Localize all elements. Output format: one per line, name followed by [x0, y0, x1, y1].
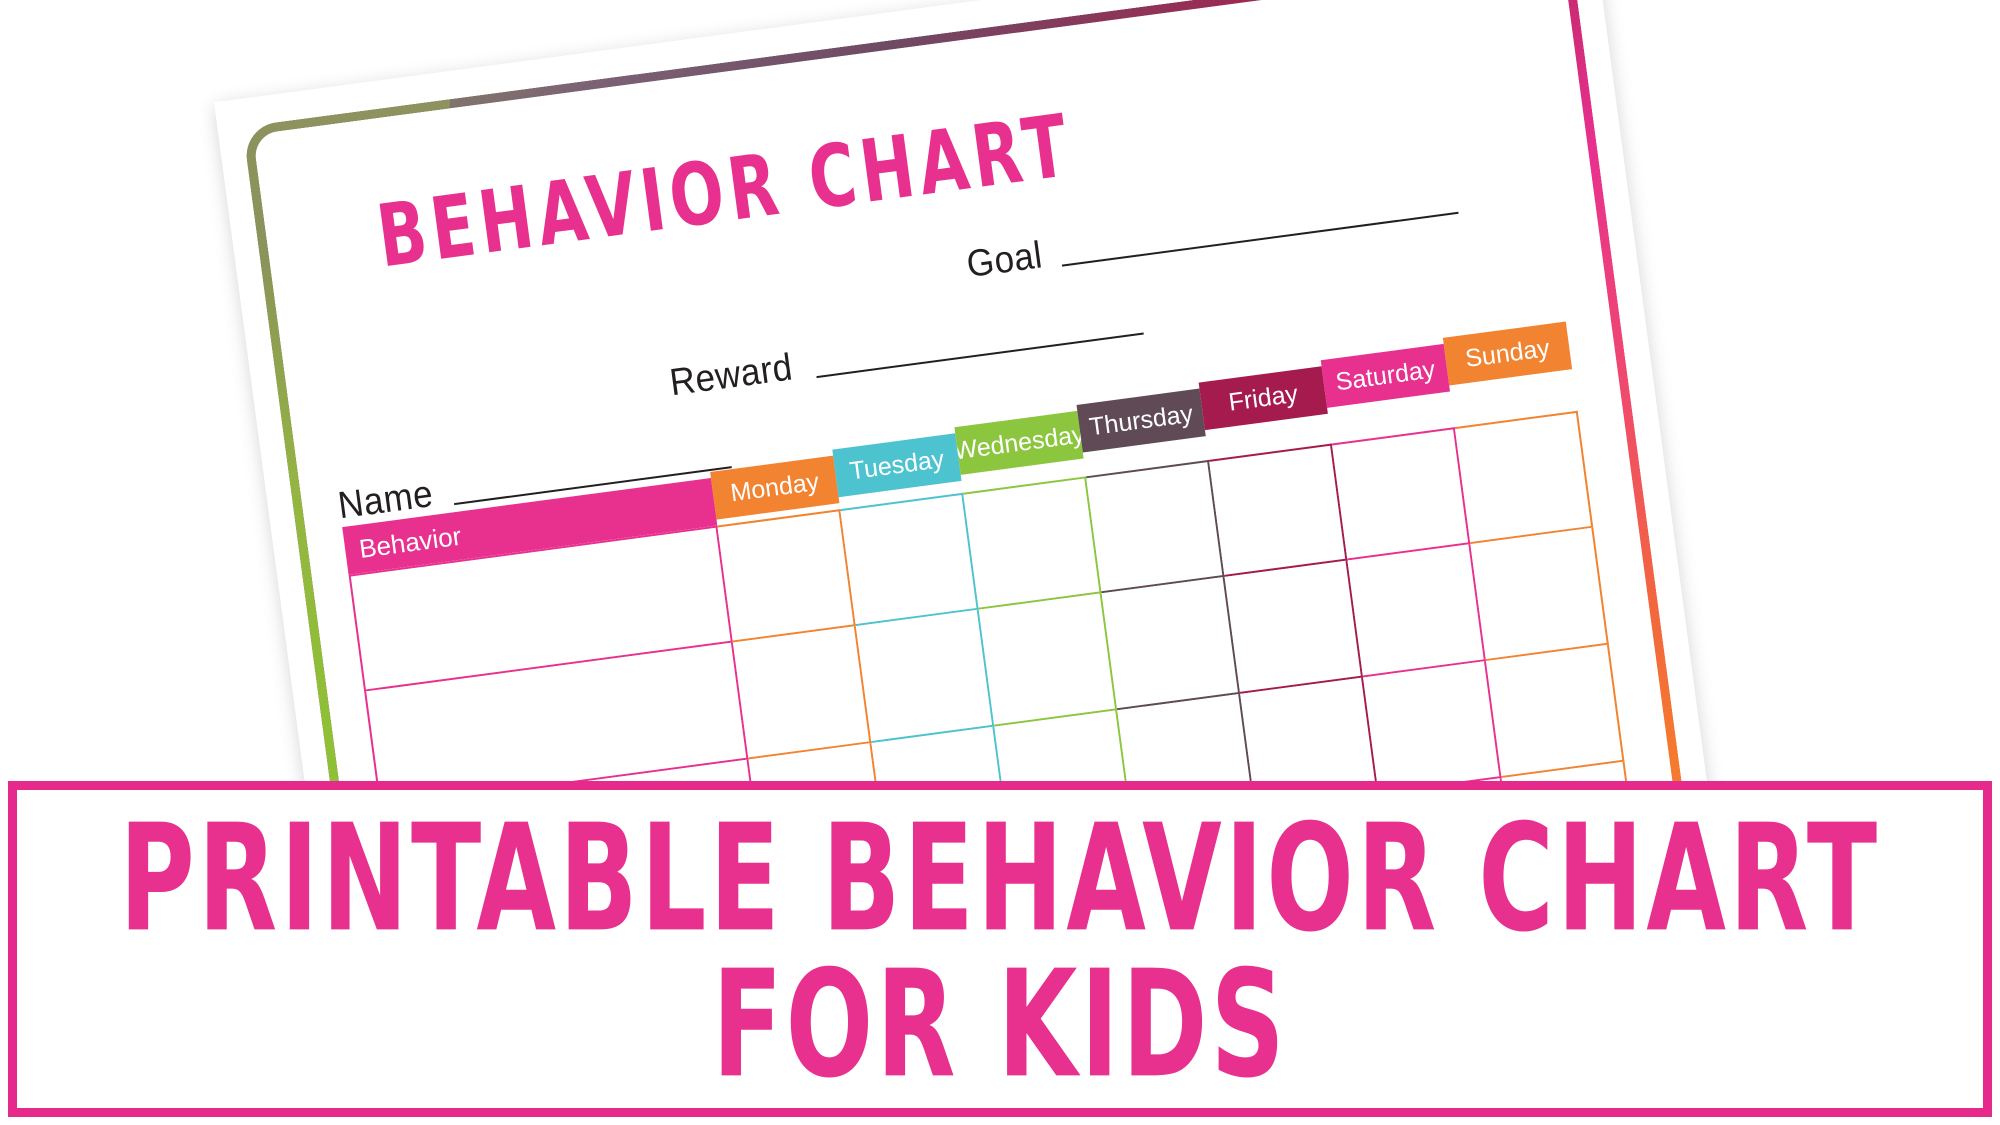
banner-line-1: PRINTABLE BEHAVIOR CHART — [120, 809, 1881, 948]
table-cell[interactable] — [733, 626, 872, 759]
table-cell[interactable] — [1347, 544, 1486, 677]
table-header-tuesday: Tuesday — [832, 433, 961, 497]
table-cell[interactable] — [979, 593, 1118, 726]
table-header-thursday: Thursday — [1077, 389, 1206, 453]
title-banner: PRINTABLE BEHAVIOR CHART FOR KIDS — [8, 781, 1992, 1117]
table-cell[interactable] — [1332, 427, 1471, 560]
table-cell[interactable] — [1486, 645, 1625, 778]
reward-field[interactable]: Reward — [667, 300, 1144, 406]
scene: BEHAVIOR CHART Goal Reward Name Behavior… — [0, 0, 2000, 1125]
table-header-friday: Friday — [1199, 366, 1328, 430]
table-cell[interactable] — [1086, 460, 1225, 593]
goal-write-line[interactable] — [1062, 212, 1459, 267]
table-cell[interactable] — [1455, 411, 1594, 544]
table-cell[interactable] — [840, 493, 979, 626]
table-cell[interactable] — [1363, 661, 1502, 794]
table-cell[interactable] — [1470, 528, 1609, 661]
banner-line-2: FOR KIDS — [712, 956, 1288, 1095]
reward-label: Reward — [667, 346, 795, 405]
table-cell[interactable] — [1225, 560, 1364, 693]
table-header-wednesday: Wednesday — [954, 411, 1083, 475]
table-cell[interactable] — [856, 610, 995, 743]
table-header-saturday: Saturday — [1321, 344, 1450, 408]
table-cell[interactable] — [717, 509, 856, 642]
reward-write-line[interactable] — [816, 332, 1143, 378]
table-header-sunday: Sunday — [1443, 322, 1572, 386]
table-cell[interactable] — [963, 476, 1102, 609]
table-cell[interactable] — [1102, 577, 1241, 710]
goal-label: Goal — [964, 234, 1045, 287]
table-cell[interactable] — [1209, 444, 1348, 577]
